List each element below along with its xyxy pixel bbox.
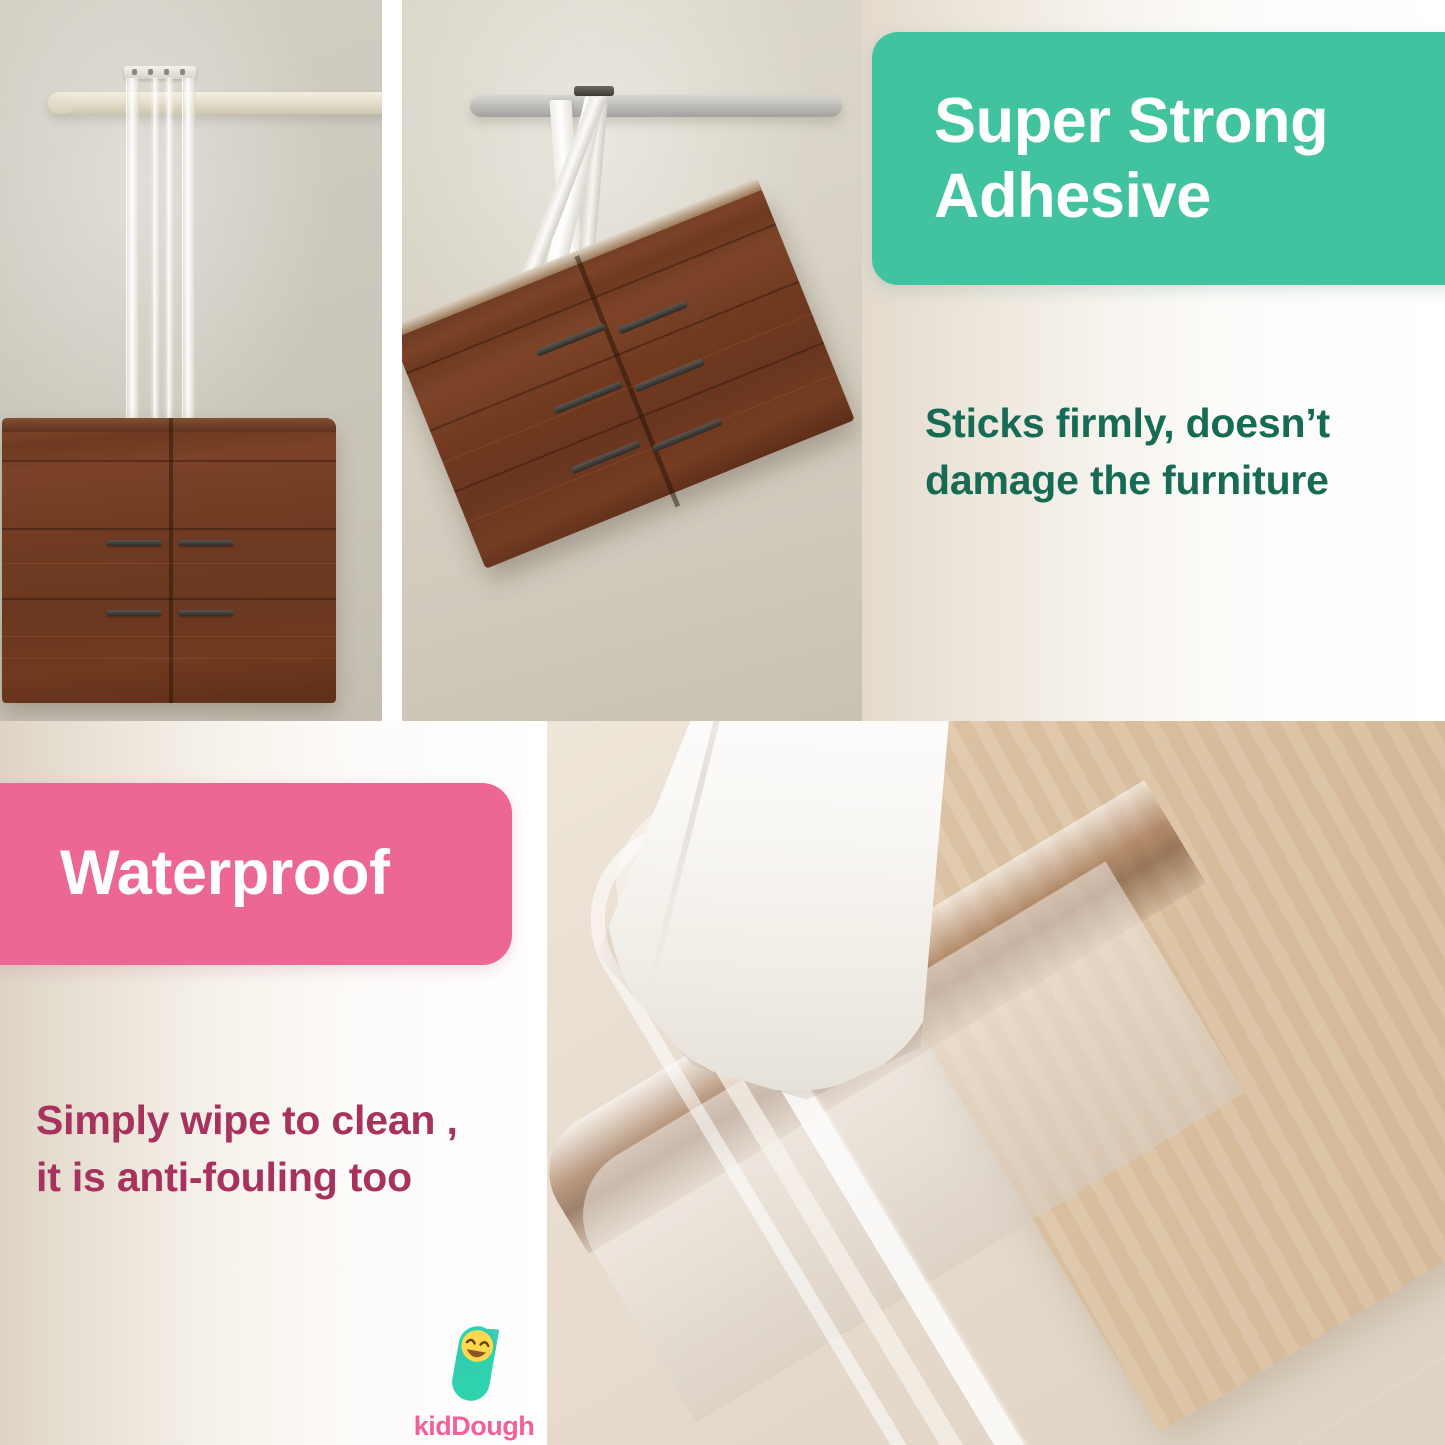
cabinet-drawer-seam bbox=[2, 598, 336, 600]
description-line-1: Simply wipe to clean , bbox=[36, 1097, 458, 1143]
feature-description-adhesive: Sticks firmly, doesn’t damage the furnit… bbox=[925, 395, 1425, 508]
photo-waterproof-wipe bbox=[547, 721, 1445, 1445]
badge-line-2: Adhesive bbox=[934, 161, 1211, 231]
wood-grain-line bbox=[2, 658, 336, 659]
description-line-2: it is anti-fouling too bbox=[36, 1154, 412, 1200]
cloth-fold bbox=[646, 721, 757, 992]
feature-badge-super-strong-adhesive: Super Strong Adhesive bbox=[872, 32, 1445, 285]
wall-rail-end-cap bbox=[48, 92, 74, 114]
drawer-handle bbox=[536, 323, 607, 357]
feature-badge-waterproof: Waterproof bbox=[0, 783, 512, 965]
drawer-handle bbox=[106, 540, 162, 546]
infographic-canvas: Super Strong Adhesive Sticks firmly, doe… bbox=[0, 0, 1445, 1445]
description-line-1: Sticks firmly, doesn’t bbox=[925, 400, 1330, 446]
description-line-2: damage the furniture bbox=[925, 457, 1329, 503]
drawer-handle bbox=[652, 418, 723, 452]
cabinet-drawer-seam bbox=[430, 281, 800, 432]
wall-rail bbox=[48, 92, 382, 114]
photo-adhesive-straps-straight bbox=[0, 0, 382, 721]
feature-badge-label: Super Strong Adhesive bbox=[934, 84, 1328, 233]
photo-adhesive-straps-tilted bbox=[402, 0, 862, 721]
wall-rail bbox=[470, 95, 842, 117]
brand-logo: kidDough bbox=[414, 1322, 534, 1442]
drawer-handle bbox=[178, 610, 234, 616]
drawer-handle bbox=[106, 610, 162, 616]
drawer-handle bbox=[178, 540, 234, 546]
badge-line-1: Super Strong bbox=[934, 86, 1328, 156]
cabinet-drawer-seam bbox=[454, 342, 824, 493]
feature-description-waterproof: Simply wipe to clean , it is anti-foulin… bbox=[36, 1092, 536, 1205]
cabinet-drawer-seam bbox=[2, 460, 336, 462]
brand-wordmark: kidDough bbox=[414, 1411, 534, 1442]
swaddled-baby-icon bbox=[443, 1322, 505, 1407]
feature-badge-label: Waterproof bbox=[60, 839, 390, 908]
walnut-cabinet bbox=[2, 418, 336, 703]
wood-grain-line bbox=[2, 636, 336, 637]
strap-clip-bracket bbox=[574, 86, 614, 96]
adhesive-strap bbox=[152, 78, 158, 428]
cabinet-drawer-seam bbox=[2, 528, 336, 530]
drawer-handle bbox=[552, 381, 623, 415]
drawer-handle bbox=[634, 358, 705, 392]
wood-grain-line bbox=[2, 563, 336, 564]
